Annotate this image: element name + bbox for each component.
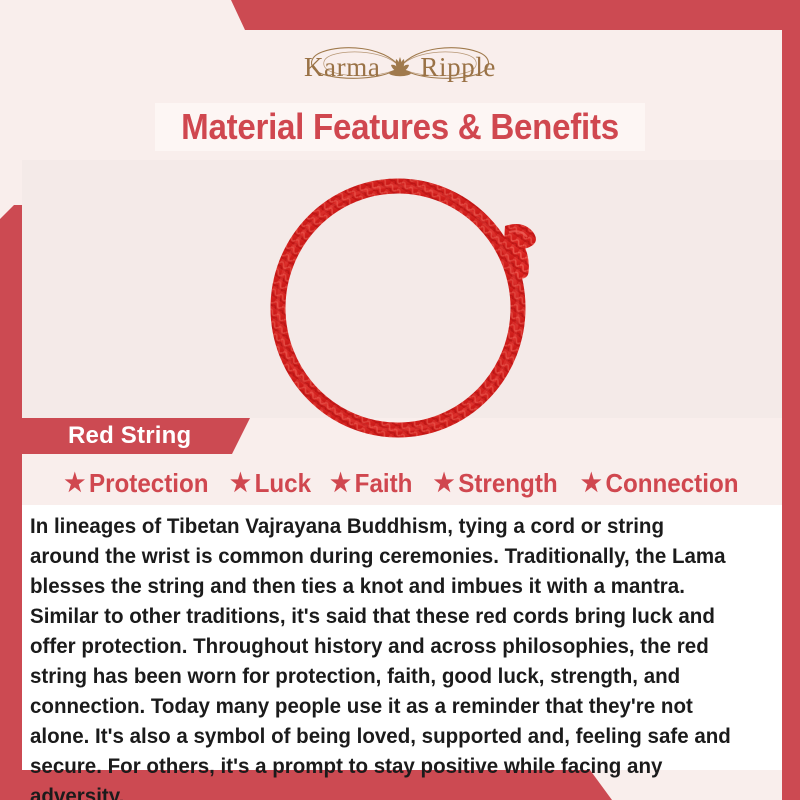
description-text: In lineages of Tibetan Vajrayana Buddhis… bbox=[30, 511, 735, 800]
feature-item-luck: ★ Luck bbox=[230, 468, 311, 499]
feature-list: ★ Protection ★ Luck ★ Faith ★ Strength ★… bbox=[22, 464, 782, 502]
feature-label: Connection bbox=[606, 468, 739, 499]
feature-item-connection: ★ Connection bbox=[581, 468, 739, 499]
description-panel: In lineages of Tibetan Vajrayana Buddhis… bbox=[22, 505, 782, 770]
red-string-bracelet-image bbox=[0, 160, 800, 460]
feature-item-strength: ★ Strength bbox=[434, 468, 558, 499]
star-icon: ★ bbox=[434, 471, 455, 496]
product-infographic: Karma Ripple Material Features & Benefit… bbox=[0, 0, 800, 800]
product-name-label: Red String bbox=[68, 418, 191, 454]
feature-item-protection: ★ Protection bbox=[65, 468, 209, 499]
star-icon: ★ bbox=[230, 471, 251, 496]
page-title: Material Features & Benefits bbox=[32, 103, 768, 151]
feature-label: Luck bbox=[255, 468, 311, 499]
star-icon: ★ bbox=[65, 471, 86, 496]
brand-logo: Karma Ripple bbox=[0, 36, 800, 98]
feature-item-faith: ★ Faith bbox=[331, 468, 413, 499]
feature-label: Protection bbox=[89, 468, 209, 499]
star-icon: ★ bbox=[581, 471, 602, 496]
feature-label: Strength bbox=[458, 468, 557, 499]
top-red-accent-bar bbox=[0, 0, 800, 36]
brand-name-left: Karma bbox=[304, 52, 380, 83]
bracelet-loop bbox=[278, 186, 518, 430]
brand-name-right: Ripple bbox=[420, 52, 496, 83]
star-icon: ★ bbox=[331, 471, 352, 496]
feature-label: Faith bbox=[355, 468, 413, 499]
